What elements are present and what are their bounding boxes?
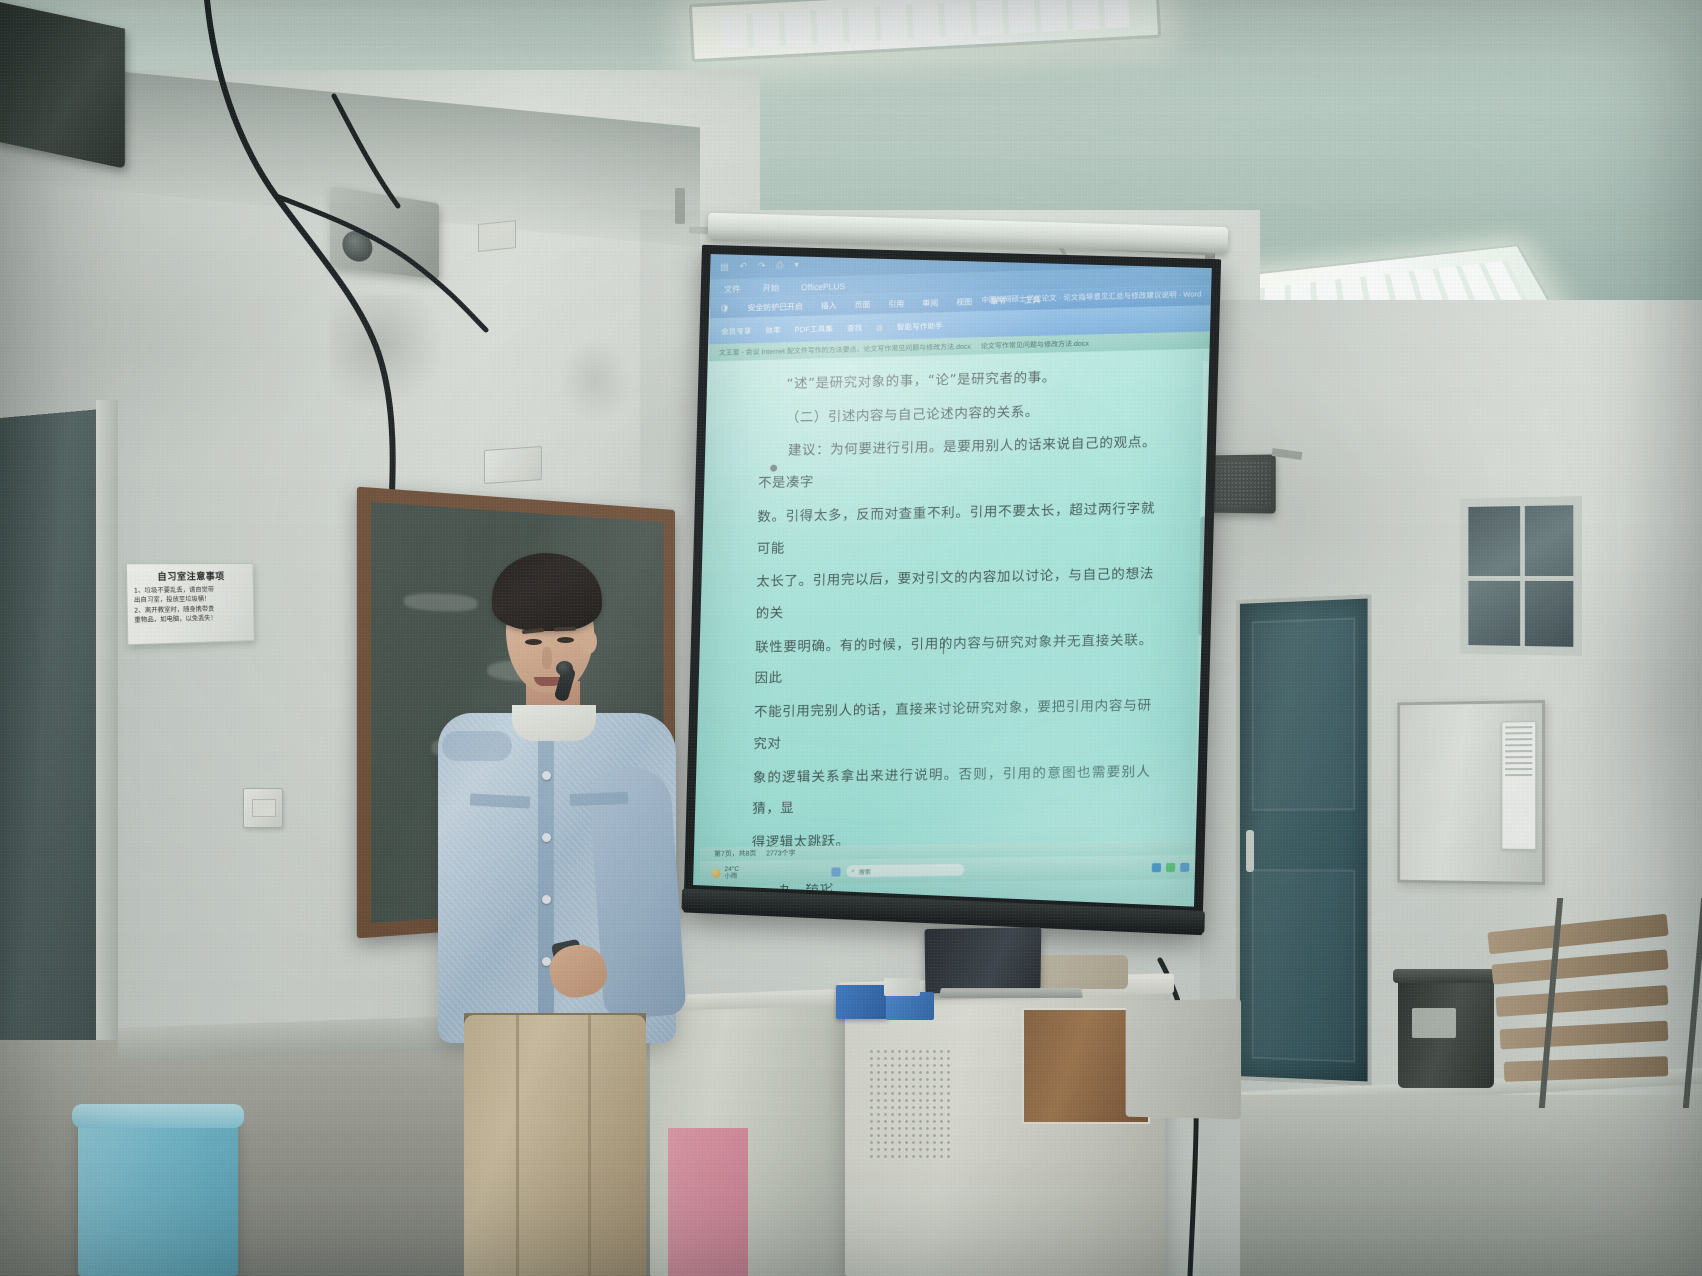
door-frame-left bbox=[96, 400, 118, 1080]
start-icon[interactable] bbox=[831, 867, 840, 876]
window-mullion-horizontal bbox=[1468, 576, 1573, 581]
tab-view[interactable]: 视图 bbox=[956, 296, 972, 307]
monitor-rear bbox=[1126, 999, 1241, 1120]
classroom-door-right[interactable] bbox=[1236, 594, 1372, 1086]
poster-line: 重物品，如电脑，以免丢失！ bbox=[134, 613, 247, 625]
presenter bbox=[430, 545, 690, 1276]
tab-pdf-tools[interactable]: PDF工具集 bbox=[795, 323, 834, 335]
taskbar-center-group[interactable]: ⌕ 搜索 bbox=[831, 864, 964, 878]
door-panel-upper bbox=[1252, 617, 1356, 810]
word-count: 2773个字 bbox=[766, 848, 795, 858]
menu-item-home[interactable]: 开始 bbox=[762, 281, 779, 293]
door-panel-lower bbox=[1252, 869, 1356, 1062]
stool-seat bbox=[72, 1104, 244, 1128]
blue-box-item-secondary bbox=[886, 992, 934, 1020]
inner-shirt-collar bbox=[512, 705, 596, 741]
eyebrow-right bbox=[554, 627, 576, 632]
tab-find[interactable]: 查找 bbox=[847, 322, 863, 333]
blue-box-item bbox=[836, 985, 888, 1019]
document-line: 太长了。引用完以后，要对引文的内容加以讨论，与自己的想法的关 bbox=[755, 559, 1154, 630]
menu-item-file[interactable]: 文件 bbox=[724, 282, 741, 294]
wechat-icon[interactable] bbox=[1166, 862, 1175, 871]
door-handle[interactable] bbox=[1246, 830, 1254, 872]
classroom-scene: 自习室注意事项 1、垃圾不要乱丢，请自觉带 出自习室，投放至垃圾桶！ 2、离开教… bbox=[0, 0, 1702, 1276]
redo-icon[interactable]: ↷ bbox=[758, 260, 766, 271]
taskbar-tray[interactable] bbox=[1152, 862, 1190, 872]
weather-icon bbox=[712, 869, 721, 878]
laptop-keyboard[interactable] bbox=[939, 988, 1083, 998]
tab-efficiency[interactable]: 效率 bbox=[765, 324, 780, 335]
tab-review[interactable]: 审阅 bbox=[922, 297, 938, 308]
location-icon: ◎ bbox=[876, 322, 883, 331]
stage-platform bbox=[1240, 1095, 1702, 1276]
projection-screen-surface[interactable]: ▤ ↶ ↷ ⎙ ▾ 文件 开始 OfficePLUS bbox=[693, 254, 1212, 907]
laptop-screen[interactable] bbox=[925, 927, 1042, 994]
document-line: 联性要明确。有的时候，引用的内容与研究对象并无直接关联。因此 bbox=[754, 625, 1153, 696]
jacket-pocket-right bbox=[570, 792, 628, 806]
jacket-button-placket bbox=[538, 721, 554, 1041]
chair-stack-frame bbox=[1539, 898, 1702, 1108]
phone-icon[interactable] bbox=[1152, 863, 1161, 872]
tab-member[interactable]: 会员专享 bbox=[721, 325, 752, 337]
blue-stool bbox=[78, 1112, 238, 1276]
window bbox=[1460, 496, 1582, 656]
panel-notice-sheet bbox=[1502, 721, 1537, 850]
wps-office-window[interactable]: ▤ ↶ ↷ ⎙ ▾ 文件 开始 OfficePLUS bbox=[700, 254, 1212, 885]
presenter-ear bbox=[580, 629, 597, 654]
trouser-crease bbox=[588, 1015, 591, 1276]
electrical-panel[interactable] bbox=[1397, 700, 1545, 885]
page-indicator: 第7页，共8页 bbox=[714, 849, 757, 860]
tab-insert[interactable]: 插入 bbox=[821, 300, 837, 311]
white-box-item bbox=[884, 978, 920, 996]
document-line: 不能引用完别人的话，直接来讨论研究对象，要把引用内容与研究对 bbox=[753, 691, 1152, 761]
eye-right bbox=[557, 637, 574, 643]
projection-screen-assembly: ▤ ↶ ↷ ⎙ ▾ 文件 开始 OfficePLUS bbox=[700, 228, 1230, 928]
jacket-button bbox=[542, 833, 551, 842]
jacket-button bbox=[542, 895, 551, 904]
document-line-bulleted: 建议：为何要进行引用。是要用别人的话来说自己的观点。不是凑字 bbox=[758, 428, 1157, 501]
quick-access-toolbar[interactable]: ▤ ↶ ↷ ⎙ ▾ bbox=[720, 259, 799, 272]
more-icon[interactable]: ▾ bbox=[794, 259, 799, 270]
undo-icon[interactable]: ↶ bbox=[740, 260, 748, 271]
lectern-speaker-grille bbox=[868, 1048, 954, 1160]
presenter-hair bbox=[492, 553, 602, 631]
khaki-trousers bbox=[464, 1015, 646, 1276]
projection-screen-frame: ▤ ↶ ↷ ⎙ ▾ 文件 开始 OfficePLUS bbox=[683, 245, 1221, 935]
document-line: 数。引得太多，反而对查重不利。引用不要太长，超过两行字就可能 bbox=[757, 493, 1156, 565]
weather-description: 小雨 bbox=[724, 873, 738, 880]
print-icon[interactable]: ⎙ bbox=[776, 259, 783, 270]
volume-icon[interactable] bbox=[1180, 862, 1189, 871]
tab-ai-writer[interactable]: 智能写作助手 bbox=[897, 320, 943, 332]
nose bbox=[542, 647, 552, 669]
bin-label bbox=[1412, 1008, 1456, 1038]
jacket-button bbox=[542, 771, 551, 780]
shield-icon: 🛡 bbox=[720, 304, 730, 313]
trouser-crease bbox=[516, 1015, 519, 1276]
light-switch-plate[interactable] bbox=[243, 788, 283, 828]
document-line: 象的逻辑关系拿出来进行说明。否则，引用的意图也需要别人猜，显 bbox=[752, 756, 1151, 825]
menu-item-officeplus[interactable]: OfficePLUS bbox=[801, 281, 845, 292]
search-placeholder: 搜索 bbox=[859, 867, 871, 876]
tab-reference[interactable]: 引用 bbox=[888, 298, 904, 309]
search-icon: ⌕ bbox=[851, 868, 854, 875]
poster-title: 自习室注意事项 bbox=[133, 569, 247, 583]
document-body[interactable]: “述”是研究对象的事，“论”是研究者的事。 （二）引述内容与自己论述内容的关系。… bbox=[700, 349, 1210, 838]
eye-left bbox=[525, 639, 542, 645]
presenter-left-shoulder bbox=[442, 731, 512, 761]
text-caret bbox=[943, 641, 945, 654]
classroom-door-left[interactable] bbox=[0, 408, 108, 1067]
microphone-head bbox=[556, 661, 573, 676]
security-label: 安全防护已开启 bbox=[747, 301, 803, 313]
save-icon[interactable]: ▤ bbox=[720, 261, 729, 272]
tab-page[interactable]: 页面 bbox=[854, 299, 870, 310]
taskbar-weather-widget[interactable]: 24°C 小雨 bbox=[712, 866, 739, 881]
document-tab-2[interactable]: 论文写作常见问题与修改方法.docx bbox=[981, 338, 1089, 351]
study-room-rules-poster: 自习室注意事项 1、垃圾不要乱丢，请自觉带 出自习室，投放至垃圾桶！ 2、离开教… bbox=[126, 563, 255, 645]
taskbar-search-box[interactable]: ⌕ 搜索 bbox=[846, 864, 964, 878]
